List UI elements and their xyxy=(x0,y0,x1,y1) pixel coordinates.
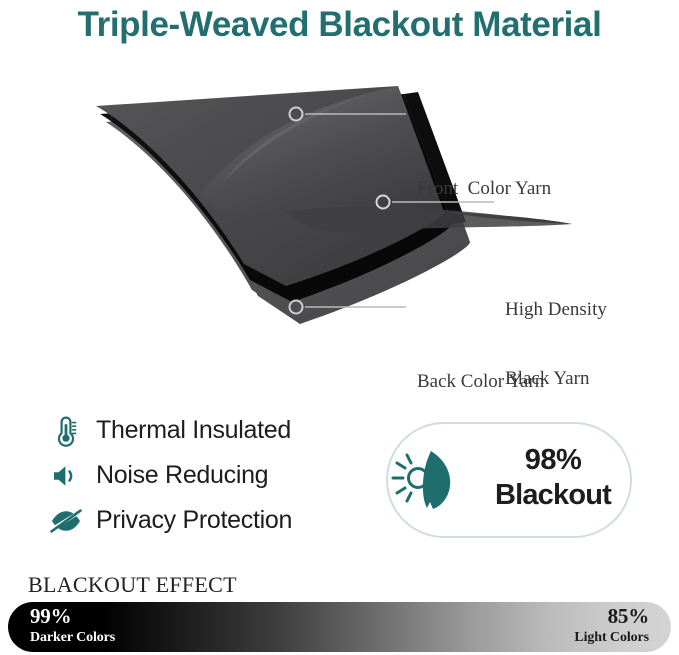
feature-label-privacy-protection: Privacy Protection xyxy=(96,506,292,535)
speaker-icon xyxy=(48,459,84,493)
darker-colors-percent: 99% xyxy=(30,606,115,627)
fabric-layers-diagram: Front Color Yarn High Density Black Yarn… xyxy=(0,72,679,362)
callout-high-density-black-yarn: High Density Black Yarn xyxy=(505,252,607,436)
eye-off-icon xyxy=(48,504,84,538)
blackout-effect-heading: BLACKOUT EFFECT xyxy=(28,572,237,598)
feature-thermal-insulated: Thermal Insulated xyxy=(48,408,378,453)
blackout-badge-text: 98% Blackout xyxy=(476,445,630,515)
feature-noise-reducing: Noise Reducing xyxy=(48,453,378,498)
page-title: Triple-Weaved Blackout Material xyxy=(0,0,679,48)
blackout-light-colors: 85% Light Colors xyxy=(574,606,649,648)
light-colors-percent: 85% xyxy=(574,606,649,627)
callout-high-density-line1: High Density xyxy=(505,298,607,321)
callout-back-color-yarn: Back Color Yarn xyxy=(417,370,544,393)
light-colors-label: Light Colors xyxy=(574,627,649,648)
blackout-darker-colors: 99% Darker Colors xyxy=(30,606,115,648)
sun-blocked-icon xyxy=(388,444,466,516)
blackout-percent: 98% xyxy=(525,444,582,476)
callout-front-color-yarn: Front Color Yarn xyxy=(417,177,551,200)
blackout-word: Blackout xyxy=(495,479,611,511)
feature-privacy-protection: Privacy Protection xyxy=(48,498,378,543)
feature-label-thermal-insulated: Thermal Insulated xyxy=(96,416,291,445)
feature-list: Thermal Insulated Noise Reducing xyxy=(48,408,378,543)
darker-colors-label: Darker Colors xyxy=(30,627,115,648)
thermometer-icon xyxy=(48,414,84,448)
blackout-badge: 98% Blackout xyxy=(386,422,632,538)
feature-label-noise-reducing: Noise Reducing xyxy=(96,461,268,490)
